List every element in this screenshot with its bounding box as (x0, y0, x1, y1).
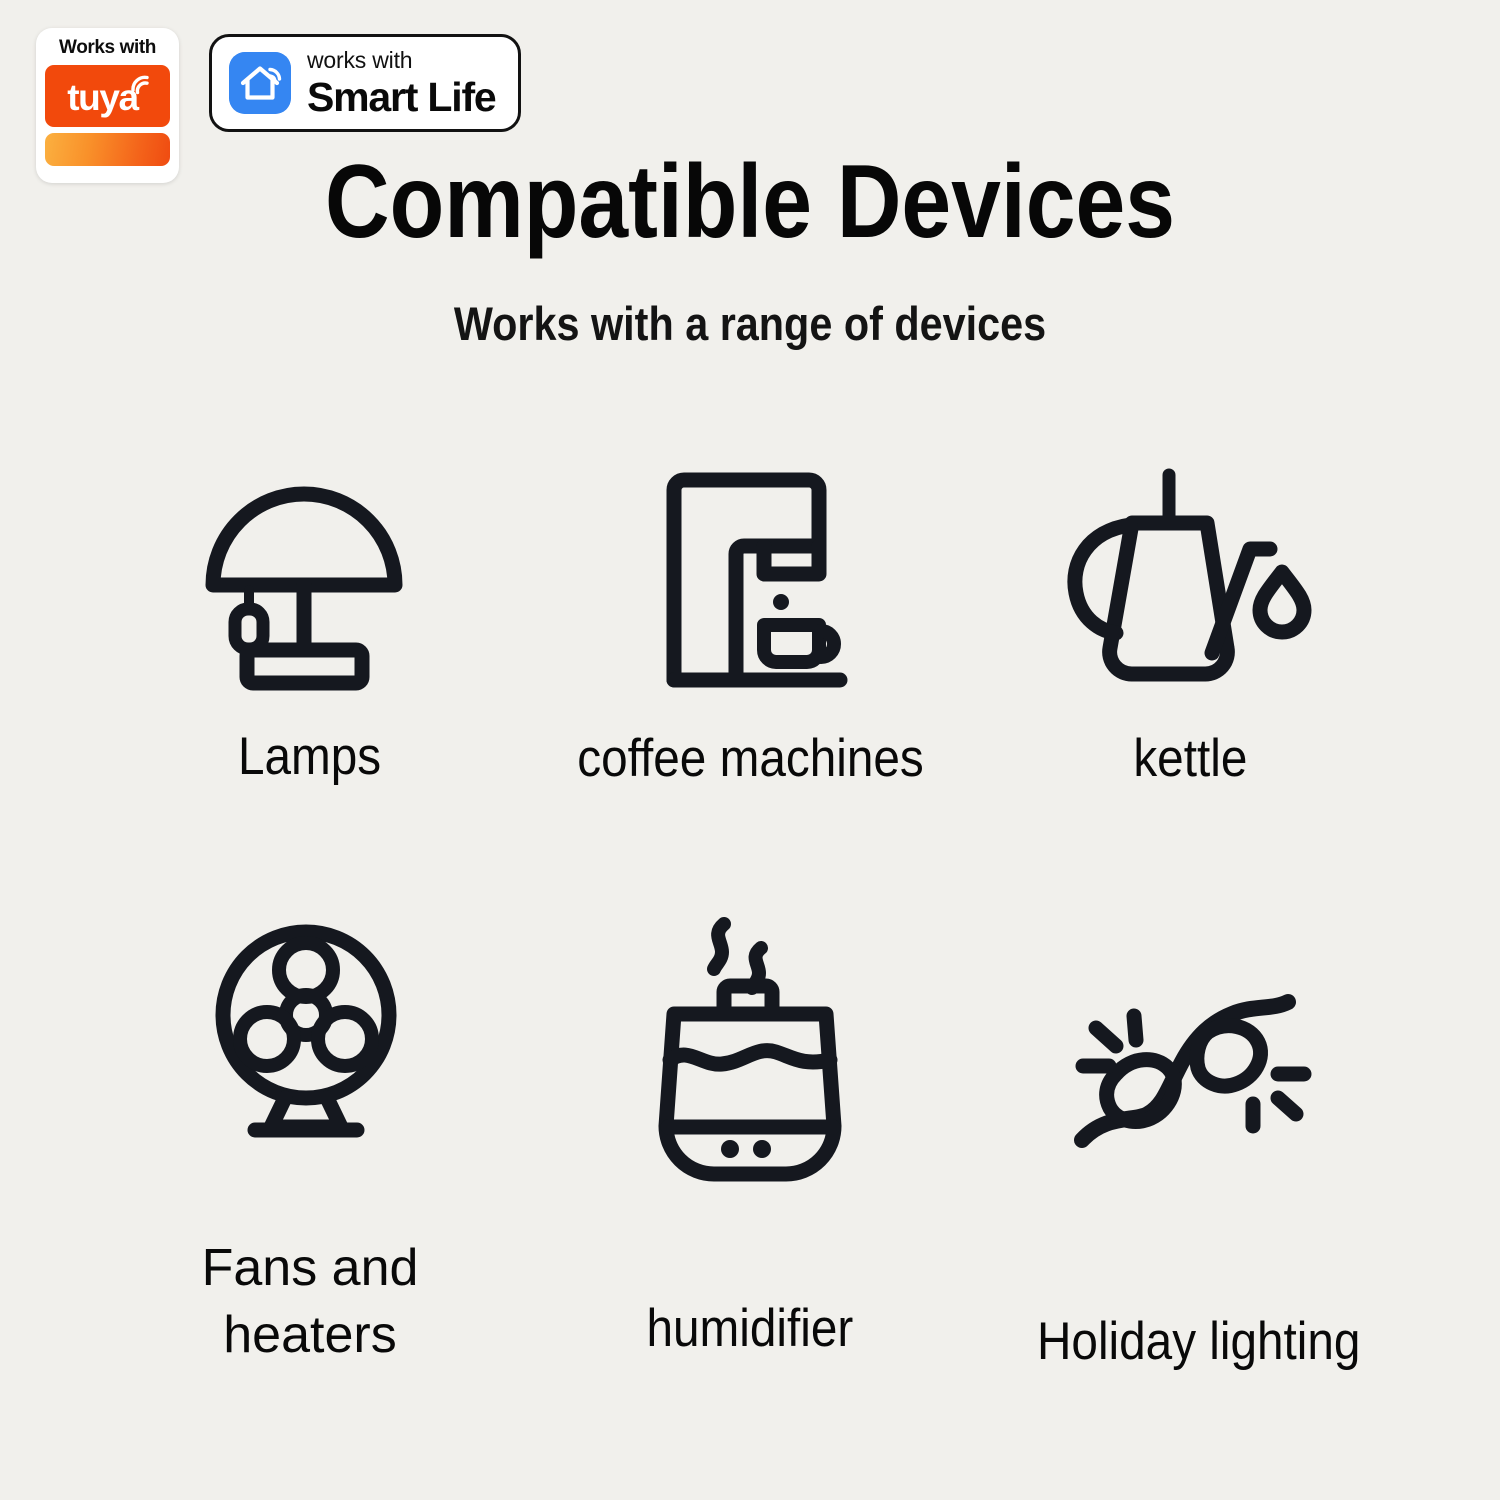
device-label-coffee-machines: coffee machines (577, 730, 923, 787)
kettle-icon-container (1064, 430, 1326, 730)
device-label-holiday-lighting: Holiday lighting (1037, 1313, 1360, 1370)
device-item-humidifier: humidifier (530, 900, 970, 1370)
smart-life-brand-label: Smart Life (307, 77, 496, 118)
device-label-lamps: Lamps (238, 728, 381, 785)
compatible-devices-grid: Lamps coffee machines ket (90, 430, 1410, 1370)
device-label-kettle: kettle (1133, 730, 1247, 787)
coffee-machine-icon-container (644, 430, 856, 730)
tuya-logo-chip: tuya (45, 65, 170, 127)
tuya-gradient-bar (45, 133, 170, 166)
tuya-brand-label: tuya (67, 79, 137, 116)
device-item-kettle: kettle (970, 430, 1410, 900)
device-item-coffee-machines: coffee machines (530, 430, 970, 900)
works-with-tuya-badge[interactable]: Works with tuya (36, 28, 179, 183)
device-item-fans-and-heaters: Fans and heaters (90, 900, 530, 1370)
lamp-icon-container (201, 430, 407, 730)
smart-life-text-block: works with Smart Life (307, 49, 496, 118)
tuya-works-with-label: Works with (59, 36, 156, 60)
string-lights-icon-container (1072, 950, 1326, 1191)
smart-home-wifi-icon (229, 52, 291, 114)
works-with-smart-life-badge[interactable]: works with Smart Life (209, 34, 521, 132)
humidifier-icon (644, 914, 856, 1186)
wifi-arc-icon (130, 75, 156, 97)
certification-badges: Works with tuya works with Smart Life (36, 28, 521, 183)
kettle-icon (1064, 465, 1326, 695)
humidifier-icon-container (644, 900, 856, 1200)
fan-icon (211, 922, 401, 1144)
device-item-holiday-lighting: Holiday lighting (988, 900, 1410, 1370)
coffee-machine-icon (644, 468, 856, 693)
fan-icon-container (211, 900, 401, 1167)
lamp-icon (201, 464, 407, 696)
string-lights-icon (1072, 984, 1326, 1156)
page-subtitle: Works with a range of devices (90, 300, 1410, 347)
device-item-lamps: Lamps (90, 430, 530, 900)
device-label-fans-and-heaters: Fans and heaters (160, 1235, 460, 1370)
smart-life-works-with-label: works with (307, 49, 496, 72)
device-label-humidifier: humidifier (647, 1300, 854, 1357)
